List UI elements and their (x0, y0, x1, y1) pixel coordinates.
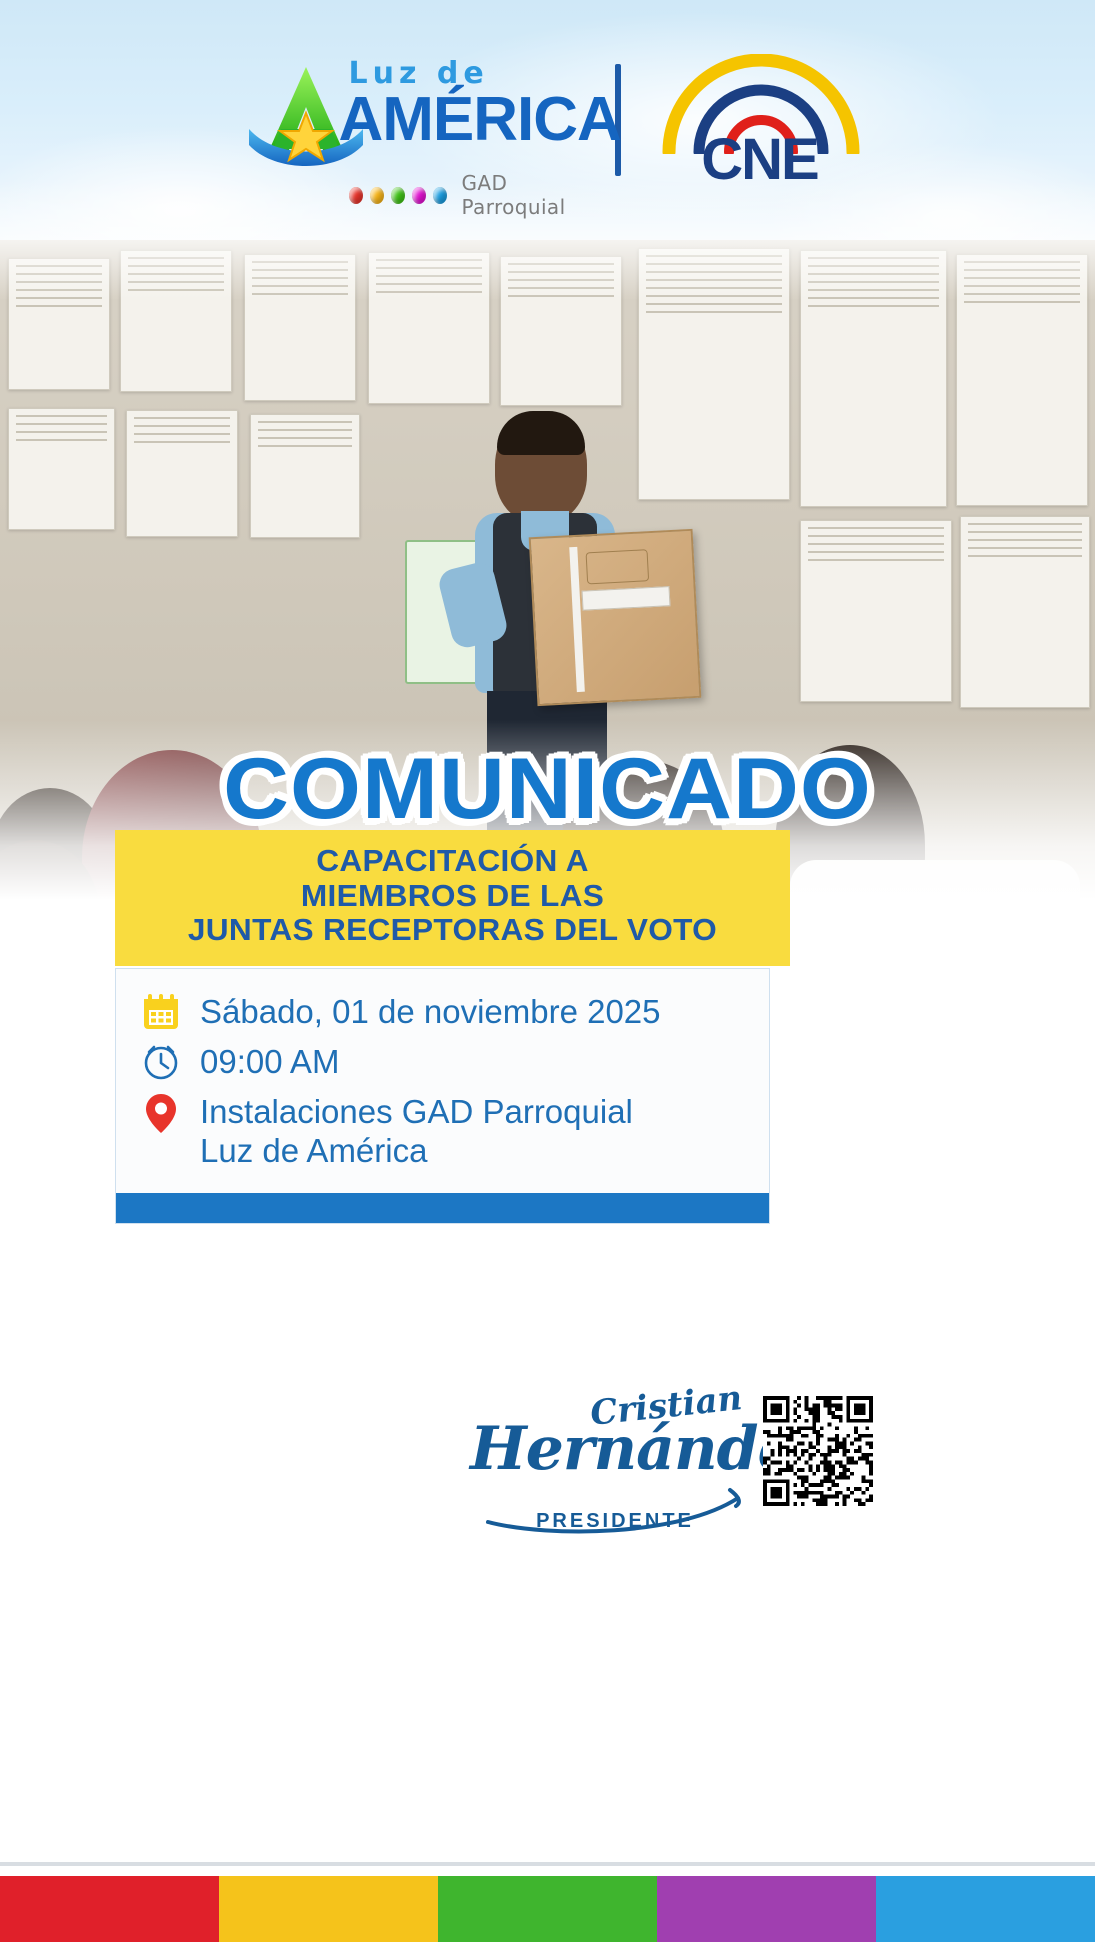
page-title: COMUNICADO (0, 740, 1095, 839)
wall-sheet (244, 254, 356, 401)
clock-icon (138, 1041, 184, 1083)
detail-time-text: 09:00 AM (200, 1041, 339, 1082)
header: Luz de AMÉRICA GAD Parroquial CNE (0, 0, 1095, 250)
photo-ballot-box (529, 529, 702, 706)
event-details-card: Sábado, 01 de noviembre 2025 09:00 AM In… (115, 968, 770, 1224)
poster-root: Luz de AMÉRICA GAD Parroquial CNE (0, 0, 1095, 1942)
wall-sheet (800, 250, 947, 507)
logo-wordmark: Luz de AMÉRICA (339, 59, 621, 150)
detail-date-text: Sábado, 01 de noviembre 2025 (200, 991, 661, 1032)
qr-code[interactable] (763, 1396, 873, 1506)
stripe-red (0, 1876, 219, 1942)
wall-sheet (250, 414, 360, 538)
signature-last-name: Hernández (470, 1422, 760, 1476)
detail-row-location: Instalaciones GAD Parroquial Luz de Amér… (116, 1087, 769, 1175)
detail-location-text: Instalaciones GAD Parroquial Luz de Amér… (200, 1091, 633, 1171)
wall-sheet (8, 258, 110, 390)
stripe-green (438, 1876, 657, 1942)
detail-row-time: 09:00 AM (116, 1037, 769, 1087)
qr-code-image (763, 1396, 873, 1506)
wall-sheet (800, 520, 952, 702)
stripe-blue (876, 1876, 1095, 1942)
photo-chair (790, 860, 1080, 900)
wall-sheet (956, 254, 1088, 506)
logo-name: AMÉRICA (339, 91, 621, 150)
banner-line-1: CAPACITACIÓN A (118, 844, 786, 879)
location-pin-icon (138, 1091, 184, 1137)
footer-color-stripes (0, 1876, 1095, 1942)
stripe-purple (657, 1876, 876, 1942)
event-title-banner: CAPACITACIÓN A MIEMBROS DE LAS JUNTAS RE… (115, 830, 790, 966)
signature-role: PRESIDENTE (470, 1510, 760, 1533)
dot-blue (433, 187, 447, 204)
dot-red (349, 187, 363, 204)
wall-sheet (8, 408, 115, 530)
logo-sublabel: GAD Parroquial (462, 171, 591, 219)
card-bottom-bar (116, 1193, 769, 1223)
banner-line-3: JUNTAS RECEPTORAS DEL VOTO (118, 913, 786, 948)
wall-sheet (500, 256, 622, 406)
wall-sheet (126, 410, 238, 537)
footer-divider (0, 1862, 1095, 1866)
cne-wordmark: CNE (665, 126, 855, 193)
signature-block: Cristian Hernández PRESIDENTE (470, 1400, 760, 1560)
dot-magenta (412, 187, 426, 204)
dot-green (391, 187, 405, 204)
wall-sheet (368, 252, 490, 404)
stripe-yellow (219, 1876, 438, 1942)
luz-de-america-logo: Luz de AMÉRICA GAD Parroquial (231, 45, 591, 205)
cne-logo: CNE (655, 48, 865, 203)
calendar-icon (138, 991, 184, 1033)
detail-row-date: Sábado, 01 de noviembre 2025 (116, 987, 769, 1037)
dot-yellow (370, 187, 384, 204)
logo-dots-row: GAD Parroquial (349, 171, 591, 219)
photo-audience-head (0, 840, 100, 900)
wall-sheet (120, 250, 232, 392)
banner-line-2: MIEMBROS DE LAS (118, 879, 786, 914)
wall-sheet (960, 516, 1090, 708)
